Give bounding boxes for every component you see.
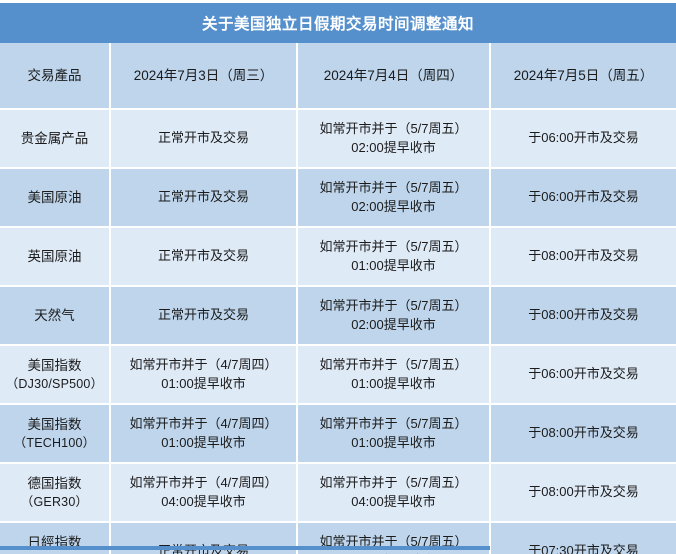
table-row: 英国原油正常开市及交易如常开市并于（5/7周五）01:00提早收市于08:00开… [0, 227, 676, 286]
cell-july-4-line1: 如常开市并于（5/7周五） [303, 474, 484, 493]
notice-title: 关于美国独立日假期交易时间调整通知 [202, 12, 474, 34]
product-code: （TECH100） [5, 434, 104, 452]
cell-july-3-line1: 正常开市及交易 [116, 129, 291, 148]
cell-july-3-line1: 正常开市及交易 [116, 306, 291, 325]
cell-product: 英国原油 [0, 227, 110, 286]
product-name: 德国指数 [28, 476, 82, 491]
cell-july-3: 正常开市及交易 [110, 109, 297, 168]
table-row: 美国原油正常开市及交易如常开市并于（5/7周五）02:00提早收市于06:00开… [0, 168, 676, 227]
cell-july-5: 于07:30开市及交易 [490, 522, 676, 554]
cell-july-3-line1: 正常开市及交易 [116, 188, 291, 207]
product-name: 英国原油 [28, 249, 82, 264]
cell-july-3: 正常开市及交易 [110, 168, 297, 227]
cell-product: 美国指数（TECH100） [0, 404, 110, 463]
product-name: 美国指数 [28, 417, 82, 432]
cell-july-5: 于08:00开市及交易 [490, 286, 676, 345]
product-code: （GER30） [5, 493, 104, 511]
product-name: 美国原油 [28, 190, 82, 205]
cell-july-5: 于06:00开市及交易 [490, 345, 676, 404]
product-code: （DJ30/SP500） [5, 375, 104, 393]
cell-july-5: 于08:00开市及交易 [490, 404, 676, 463]
cell-july-5: 于08:00开市及交易 [490, 227, 676, 286]
table-row: 美国指数（DJ30/SP500）如常开市并于（4/7周四）01:00提早收市如常… [0, 345, 676, 404]
cell-product: 美国指数（DJ30/SP500） [0, 345, 110, 404]
cell-july-3: 正常开市及交易 [110, 227, 297, 286]
cell-july-3-line2: 01:00提早收市 [116, 434, 291, 453]
trading-hours-notice-card: 关于美国独立日假期交易时间调整通知 交易產品 2024年7月3日（周三） 202… [0, 0, 676, 554]
cell-july-4: 如常开市并于（5/7周五）01:00提早收市 [297, 345, 490, 404]
cell-july-4-line1: 如常开市并于（5/7周五） [303, 415, 484, 434]
cell-july-4-line1: 如常开市并于（5/7周五） [303, 179, 484, 198]
cell-july-4-line2: 02:00提早收市 [303, 139, 484, 158]
cell-july-5-line1: 于06:00开市及交易 [496, 188, 671, 207]
cell-july-3-line1: 如常开市并于（4/7周四） [116, 356, 291, 375]
cell-july-4-line2: 04:00提早收市 [303, 493, 484, 512]
cell-july-3-line1: 正常开市及交易 [116, 247, 291, 266]
cell-july-4-line1: 如常开市并于（5/7周五） [303, 356, 484, 375]
cell-july-4: 如常开市并于（5/7周五）04:00提早收市 [297, 463, 490, 522]
cell-july-3: 正常开市及交易 [110, 286, 297, 345]
column-header-july-4: 2024年7月4日（周四） [297, 43, 490, 109]
cell-july-3-line2: 01:00提早收市 [116, 375, 291, 394]
table-row: 美国指数（TECH100）如常开市并于（4/7周四）01:00提早收市如常开市并… [0, 404, 676, 463]
table-row: 天然气正常开市及交易如常开市并于（5/7周五）02:00提早收市于08:00开市… [0, 286, 676, 345]
column-header-july-3: 2024年7月3日（周三） [110, 43, 297, 109]
cell-july-3-line1: 如常开市并于（4/7周四） [116, 415, 291, 434]
cell-july-3-line2: 04:00提早收市 [116, 493, 291, 512]
cell-july-4-line1: 如常开市并于（5/7周五） [303, 238, 484, 257]
cell-july-5: 于08:00开市及交易 [490, 463, 676, 522]
column-header-product: 交易產品 [0, 43, 110, 109]
cell-july-5-line1: 于08:00开市及交易 [496, 483, 671, 502]
product-name: 美国指数 [28, 358, 82, 373]
cell-july-5: 于06:00开市及交易 [490, 168, 676, 227]
bottom-accent-rule [0, 546, 490, 550]
cell-product: 德国指数（GER30） [0, 463, 110, 522]
cell-july-4-line2: 02:00提早收市 [303, 316, 484, 335]
cell-july-5-line1: 于06:00开市及交易 [496, 129, 671, 148]
cell-product: 美国原油 [0, 168, 110, 227]
cell-july-3-line1: 如常开市并于（4/7周四） [116, 474, 291, 493]
cell-july-4: 如常开市并于（5/7周五）01:00提早收市 [297, 227, 490, 286]
table-header-row: 交易產品 2024年7月3日（周三） 2024年7月4日（周四） 2024年7月… [0, 43, 676, 109]
cell-july-4-line2: 01:00提早收市 [303, 375, 484, 394]
cell-july-3: 如常开市并于（4/7周四）04:00提早收市 [110, 463, 297, 522]
cell-product: 天然气 [0, 286, 110, 345]
notice-title-bar: 关于美国独立日假期交易时间调整通知 [0, 3, 676, 43]
cell-july-5-line1: 于07:30开市及交易 [496, 542, 671, 554]
cell-july-4: 如常开市并于（5/7周五）02:00提早收市 [297, 109, 490, 168]
product-name: 贵金属产品 [21, 131, 89, 146]
cell-july-4-line2: 01:00提早收市 [303, 257, 484, 276]
cell-july-3: 如常开市并于（4/7周四）01:00提早收市 [110, 404, 297, 463]
cell-july-4: 如常开市并于（5/7周五）02:00提早收市 [297, 286, 490, 345]
cell-july-4: 如常开市并于（5/7周五）02:00提早收市 [297, 168, 490, 227]
cell-july-4: 如常开市并于（5/7周五）01:00提早收市 [297, 404, 490, 463]
cell-july-5-line1: 于08:00开市及交易 [496, 247, 671, 266]
cell-product: 贵金属产品 [0, 109, 110, 168]
column-header-july-5: 2024年7月5日（周五） [490, 43, 676, 109]
cell-july-4-line2: 01:00提早收市 [303, 434, 484, 453]
table-body: 贵金属产品正常开市及交易如常开市并于（5/7周五）02:00提早收市于06:00… [0, 109, 676, 554]
cell-july-4-line1: 如常开市并于（5/7周五） [303, 297, 484, 316]
cell-july-5-line1: 于08:00开市及交易 [496, 306, 671, 325]
table-header: 交易產品 2024年7月3日（周三） 2024年7月4日（周四） 2024年7月… [0, 43, 676, 109]
product-name: 天然气 [34, 308, 75, 323]
cell-july-5: 于06:00开市及交易 [490, 109, 676, 168]
cell-july-5-line1: 于06:00开市及交易 [496, 365, 671, 384]
trading-hours-table: 交易產品 2024年7月3日（周三） 2024年7月4日（周四） 2024年7月… [0, 43, 676, 554]
cell-july-4-line1: 如常开市并于（5/7周五） [303, 120, 484, 139]
cell-july-5-line1: 于08:00开市及交易 [496, 424, 671, 443]
table-row: 贵金属产品正常开市及交易如常开市并于（5/7周五）02:00提早收市于06:00… [0, 109, 676, 168]
cell-july-3: 如常开市并于（4/7周四）01:00提早收市 [110, 345, 297, 404]
table-row: 德国指数（GER30）如常开市并于（4/7周四）04:00提早收市如常开市并于（… [0, 463, 676, 522]
cell-july-4-line2: 02:00提早收市 [303, 198, 484, 217]
